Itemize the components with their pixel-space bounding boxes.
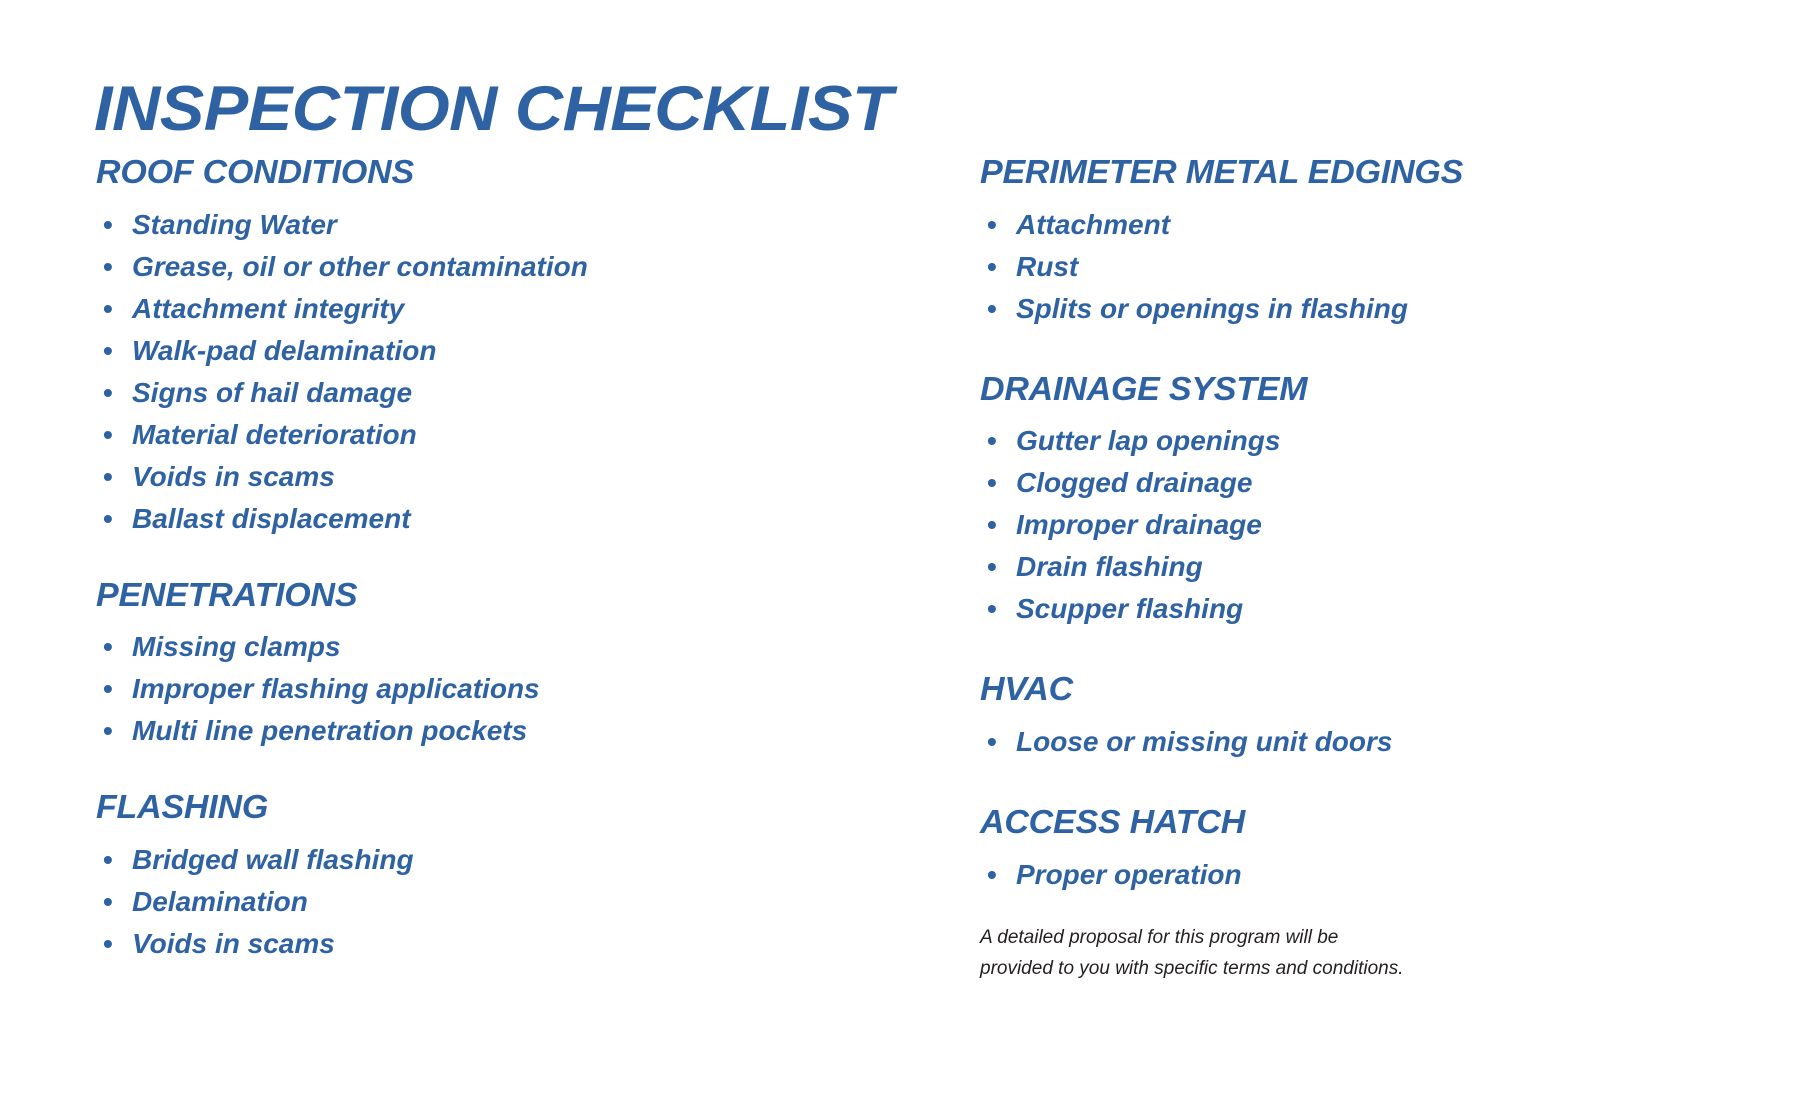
section-heading-hvac: HVAC: [980, 672, 1804, 707]
list-item: • Walk-pad delamination: [96, 330, 980, 372]
list-item-label: Grease, oil or other contamination: [132, 251, 588, 282]
list-item-label: Multi line penetration pockets: [132, 715, 527, 746]
list-item: • Multi line penetration pockets: [96, 710, 980, 752]
list-item-label: Material deterioration: [132, 419, 417, 450]
list-item: • Material deterioration: [96, 414, 980, 456]
list-item: • Signs of hail damage: [96, 372, 980, 414]
section-access-hatch: ACCESS HATCH • Proper operation: [980, 805, 1804, 896]
bullet-icon: •: [103, 288, 113, 330]
list-item-label: Improper drainage: [1016, 509, 1262, 540]
list-item: • Drain flashing: [980, 546, 1804, 588]
perimeter-metal-edgings-list: • Attachment • Rust • Splits or openings…: [980, 204, 1804, 330]
list-item: • Standing Water: [96, 204, 980, 246]
bullet-icon: •: [987, 246, 997, 288]
list-item-label: Proper operation: [1016, 859, 1242, 890]
hvac-list: • Loose or missing unit doors: [980, 721, 1804, 763]
bullet-icon: •: [103, 414, 113, 456]
left-column: ROOF CONDITIONS • Standing Water • Greas…: [0, 155, 980, 965]
bullet-icon: •: [987, 504, 997, 546]
section-hvac: HVAC • Loose or missing unit doors: [980, 672, 1804, 763]
list-item: • Proper operation: [980, 854, 1804, 896]
section-heading-roof-conditions: ROOF CONDITIONS: [96, 155, 1007, 190]
checklist-page: INSPECTION CHECKLIST ROOF CONDITIONS • S…: [0, 0, 1804, 1109]
section-perimeter-metal-edgings: PERIMETER METAL EDGINGS • Attachment • R…: [980, 155, 1804, 330]
bullet-icon: •: [103, 456, 113, 498]
checklist-columns: ROOF CONDITIONS • Standing Water • Greas…: [0, 155, 1804, 984]
list-item: • Ballast displacement: [96, 498, 980, 540]
bullet-icon: •: [103, 246, 113, 288]
bullet-icon: •: [103, 498, 113, 540]
list-item: • Voids in scams: [96, 456, 980, 498]
list-item: • Grease, oil or other contamination: [96, 246, 980, 288]
list-item: • Gutter lap openings: [980, 420, 1804, 462]
list-item-label: Gutter lap openings: [1016, 425, 1280, 456]
bullet-icon: •: [103, 923, 113, 965]
page-title: INSPECTION CHECKLIST: [94, 78, 892, 141]
footnote-disclaimer: A detailed proposal for this program wil…: [980, 922, 1540, 985]
list-item-label: Voids in scams: [132, 928, 335, 959]
list-item: • Voids in scams: [96, 923, 980, 965]
list-item-label: Voids in scams: [132, 461, 335, 492]
bullet-icon: •: [987, 462, 997, 504]
section-heading-flashing: FLASHING: [96, 790, 1007, 825]
bullet-icon: •: [987, 854, 997, 896]
footnote-line-2: provided to you with specific terms and …: [980, 953, 1540, 984]
list-item-label: Standing Water: [132, 209, 337, 240]
section-flashing: FLASHING • Bridged wall flashing • Delam…: [96, 790, 980, 965]
list-item: • Improper flashing applications: [96, 668, 980, 710]
section-heading-drainage-system: DRAINAGE SYSTEM: [980, 372, 1804, 407]
bullet-icon: •: [987, 546, 997, 588]
bullet-icon: •: [103, 710, 113, 752]
list-item-label: Loose or missing unit doors: [1016, 726, 1392, 757]
bullet-icon: •: [987, 588, 997, 630]
access-hatch-list: • Proper operation: [980, 854, 1804, 896]
list-item-label: Scupper flashing: [1016, 593, 1243, 624]
list-item: • Attachment: [980, 204, 1804, 246]
list-item: • Scupper flashing: [980, 588, 1804, 630]
list-item: • Attachment integrity: [96, 288, 980, 330]
list-item-label: Improper flashing applications: [132, 673, 540, 704]
bullet-icon: •: [103, 668, 113, 710]
list-item-label: Drain flashing: [1016, 551, 1203, 582]
list-item-label: Signs of hail damage: [132, 377, 412, 408]
list-item-label: Bridged wall flashing: [132, 844, 414, 875]
section-heading-perimeter-metal-edgings: PERIMETER METAL EDGINGS: [980, 155, 1804, 190]
bullet-icon: •: [103, 626, 113, 668]
bullet-icon: •: [987, 288, 997, 330]
bullet-icon: •: [103, 330, 113, 372]
penetrations-list: • Missing clamps • Improper flashing app…: [96, 626, 980, 752]
list-item-label: Ballast displacement: [132, 503, 411, 534]
drainage-system-list: • Gutter lap openings • Clogged drainage…: [980, 420, 1804, 630]
section-heading-penetrations: PENETRATIONS: [96, 578, 1007, 613]
list-item-label: Clogged drainage: [1016, 467, 1252, 498]
list-item: • Bridged wall flashing: [96, 839, 980, 881]
section-roof-conditions: ROOF CONDITIONS • Standing Water • Greas…: [96, 155, 980, 540]
list-item-label: Missing clamps: [132, 631, 341, 662]
right-column: PERIMETER METAL EDGINGS • Attachment • R…: [980, 155, 1804, 984]
flashing-list: • Bridged wall flashing • Delamination •…: [96, 839, 980, 965]
bullet-icon: •: [103, 881, 113, 923]
bullet-icon: •: [103, 839, 113, 881]
bullet-icon: •: [103, 204, 113, 246]
section-penetrations: PENETRATIONS • Missing clamps • Improper…: [96, 578, 980, 753]
list-item-label: Attachment integrity: [132, 293, 404, 324]
list-item-label: Splits or openings in flashing: [1016, 293, 1408, 324]
bullet-icon: •: [987, 420, 997, 462]
list-item: • Missing clamps: [96, 626, 980, 668]
bullet-icon: •: [987, 721, 997, 763]
list-item-label: Attachment: [1016, 209, 1170, 240]
list-item-label: Walk-pad delamination: [132, 335, 436, 366]
list-item: • Rust: [980, 246, 1804, 288]
section-heading-access-hatch: ACCESS HATCH: [980, 805, 1804, 840]
bullet-icon: •: [103, 372, 113, 414]
list-item: • Loose or missing unit doors: [980, 721, 1804, 763]
list-item: • Delamination: [96, 881, 980, 923]
list-item-label: Delamination: [132, 886, 308, 917]
footnote-line-1: A detailed proposal for this program wil…: [980, 922, 1540, 953]
roof-conditions-list: • Standing Water • Grease, oil or other …: [96, 204, 980, 540]
section-drainage-system: DRAINAGE SYSTEM • Gutter lap openings • …: [980, 372, 1804, 631]
list-item-label: Rust: [1016, 251, 1078, 282]
list-item: • Splits or openings in flashing: [980, 288, 1804, 330]
bullet-icon: •: [987, 204, 997, 246]
list-item: • Improper drainage: [980, 504, 1804, 546]
list-item: • Clogged drainage: [980, 462, 1804, 504]
